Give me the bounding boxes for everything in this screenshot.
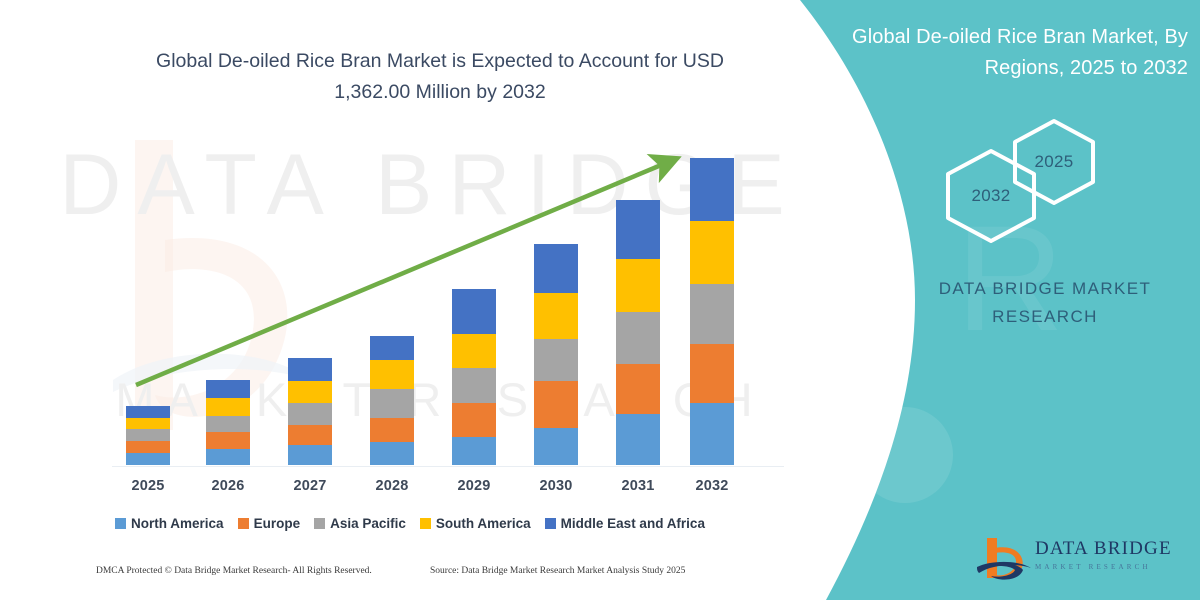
bar-segment xyxy=(616,259,660,312)
bar-2029[interactable] xyxy=(452,289,496,465)
legend-item-north-america[interactable]: North America xyxy=(115,516,224,531)
legend-swatch-icon xyxy=(314,518,325,529)
bar-segment xyxy=(126,418,170,430)
bar-segment xyxy=(452,334,496,369)
legend-label: North America xyxy=(131,516,224,531)
bar-segment xyxy=(452,368,496,403)
x-axis-line xyxy=(112,466,784,467)
logo-text: DATA BRIDGE MARKET RESEARCH xyxy=(1035,538,1172,571)
legend-label: Asia Pacific xyxy=(330,516,406,531)
legend-label: Middle East and Africa xyxy=(561,516,705,531)
bar-segment xyxy=(452,437,496,465)
legend-swatch-icon xyxy=(545,518,556,529)
bar-segment xyxy=(206,432,250,449)
hexagon-2025-label: 2025 xyxy=(1010,118,1098,206)
bar-2027[interactable] xyxy=(288,358,332,465)
bar-segment xyxy=(370,360,414,389)
x-axis-label-2032: 2032 xyxy=(672,478,752,494)
bar-2031[interactable] xyxy=(616,200,660,466)
footer-copyright: DMCA Protected © Data Bridge Market Rese… xyxy=(96,566,372,576)
bar-segment xyxy=(126,429,170,441)
bar-segment xyxy=(616,414,660,465)
bar-segment xyxy=(206,416,250,433)
legend-item-middle-east-and-africa[interactable]: Middle East and Africa xyxy=(545,516,705,531)
bar-segment xyxy=(690,221,734,284)
bar-segment xyxy=(288,403,332,425)
bar-segment xyxy=(616,200,660,259)
bar-segment xyxy=(206,449,250,465)
bar-segment xyxy=(534,381,578,427)
x-axis-label-2028: 2028 xyxy=(352,478,432,494)
legend-swatch-icon xyxy=(420,518,431,529)
legend-swatch-icon xyxy=(238,518,249,529)
legend-item-asia-pacific[interactable]: Asia Pacific xyxy=(314,516,406,531)
logo-mark-icon xyxy=(975,534,1033,586)
hexagon-group: 2032 2025 xyxy=(925,118,1115,228)
bar-segment xyxy=(534,428,578,466)
panel-title: Global De-oiled Rice Bran Market, By Reg… xyxy=(830,22,1188,84)
panel-brand-line1: DATA BRIDGE MARKET xyxy=(900,275,1190,303)
legend-label: South America xyxy=(436,516,531,531)
bar-segment xyxy=(288,358,332,381)
legend-swatch-icon xyxy=(115,518,126,529)
bar-segment xyxy=(370,389,414,418)
bar-2030[interactable] xyxy=(534,244,578,465)
bar-segment xyxy=(126,453,170,465)
bar-segment xyxy=(452,289,496,333)
logo-name: DATA BRIDGE xyxy=(1035,538,1172,560)
bar-segment xyxy=(206,380,250,398)
x-axis-labels: 20252026202720282029203020312032 xyxy=(0,478,820,502)
x-axis-label-2030: 2030 xyxy=(516,478,596,494)
data-bridge-logo[interactable]: DATA BRIDGE MARKET RESEARCH xyxy=(975,532,1190,588)
hexagon-2025: 2025 xyxy=(1010,118,1098,206)
bar-segment xyxy=(370,336,414,361)
x-axis-label-2026: 2026 xyxy=(188,478,268,494)
bar-segment xyxy=(288,445,332,465)
bar-segment xyxy=(452,403,496,438)
bar-segment xyxy=(534,339,578,381)
bar-segment xyxy=(534,293,578,338)
bar-segment xyxy=(288,381,332,403)
bar-2028[interactable] xyxy=(370,336,414,465)
logo-tagline: MARKET RESEARCH xyxy=(1035,563,1172,571)
bar-segment xyxy=(690,403,734,465)
bar-segment xyxy=(616,364,660,413)
bar-2032[interactable] xyxy=(690,158,734,465)
bar-segment xyxy=(534,244,578,293)
legend-item-south-america[interactable]: South America xyxy=(420,516,531,531)
bar-segment xyxy=(690,284,734,343)
x-axis-label-2025: 2025 xyxy=(108,478,188,494)
bar-segment xyxy=(126,441,170,453)
footer-source: Source: Data Bridge Market Research Mark… xyxy=(430,566,685,576)
bar-segment xyxy=(690,158,734,221)
x-axis-label-2031: 2031 xyxy=(598,478,678,494)
bar-segment xyxy=(126,406,170,418)
x-axis-label-2027: 2027 xyxy=(270,478,350,494)
x-axis-label-2029: 2029 xyxy=(434,478,514,494)
bar-segment xyxy=(370,418,414,443)
bar-segment xyxy=(690,344,734,403)
legend-item-europe[interactable]: Europe xyxy=(238,516,301,531)
bar-2025[interactable] xyxy=(126,406,170,465)
bar-segment xyxy=(206,398,250,416)
bar-segment xyxy=(370,442,414,465)
panel-brand: DATA BRIDGE MARKET RESEARCH xyxy=(900,275,1190,331)
legend-label: Europe xyxy=(254,516,301,531)
bar-segment xyxy=(288,425,332,446)
bar-chart-plot: 20252026202720282029203020312032 xyxy=(0,0,820,600)
bar-segment xyxy=(616,312,660,364)
footer: DMCA Protected © Data Bridge Market Rese… xyxy=(0,566,800,586)
bar-2026[interactable] xyxy=(206,380,250,465)
infographic-canvas: R Global De-oiled Rice Bran Market, By R… xyxy=(0,0,1200,600)
chart-legend: North AmericaEuropeAsia PacificSouth Ame… xyxy=(0,516,820,531)
panel-brand-line2: RESEARCH xyxy=(900,303,1190,331)
